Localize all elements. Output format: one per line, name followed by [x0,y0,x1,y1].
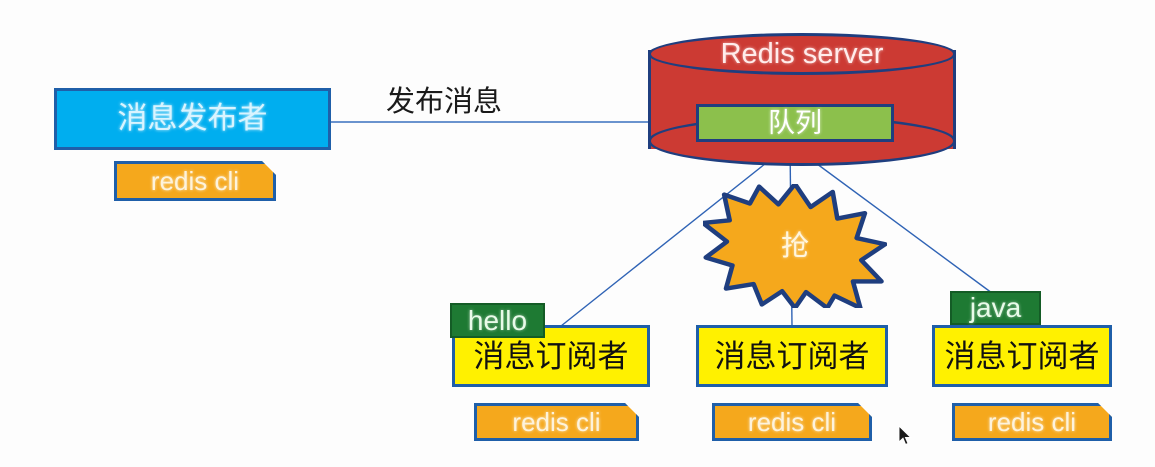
subscriber-cli-tag-1[interactable]: redis cli [474,403,639,441]
publisher-label: 消息发布者 [118,104,268,134]
publisher-box[interactable]: 消息发布者 [54,88,331,150]
connector-layer [0,0,1155,467]
subscriber-label-1: 消息订阅者 [474,341,629,372]
subscriber-cli-tag-2[interactable]: redis cli [712,403,872,441]
topic-label-3: java [970,294,1021,322]
subscriber-cli-label-1: redis cli [512,409,600,435]
mouse-pointer-icon [898,425,914,447]
subscriber-cli-label-3: redis cli [988,409,1076,435]
subscriber-label-2: 消息订阅者 [715,341,870,372]
subscriber-box-2[interactable]: 消息订阅者 [696,325,888,387]
contention-label: 抢 [703,184,887,308]
publish-message-label: 发布消息 [386,88,502,117]
publisher-cli-label: redis cli [151,168,239,194]
diagram-canvas: 消息发布者 redis cli 发布消息 Redis server 队列 抢 消… [0,0,1155,467]
subscriber-cli-tag-3[interactable]: redis cli [952,403,1112,441]
topic-label-1: hello [468,307,527,335]
queue-label: 队列 [768,110,822,137]
subscriber-box-3[interactable]: 消息订阅者 [932,325,1112,387]
topic-tag-java[interactable]: java [950,291,1041,325]
redis-server-cylinder[interactable]: Redis server [648,33,956,166]
subscriber-cli-label-2: redis cli [748,409,836,435]
redis-server-title: Redis server [648,36,956,72]
topic-tag-hello[interactable]: hello [450,303,545,338]
subscriber-label-3: 消息订阅者 [945,341,1100,372]
queue-box[interactable]: 队列 [696,104,894,142]
publisher-cli-tag[interactable]: redis cli [114,161,276,201]
